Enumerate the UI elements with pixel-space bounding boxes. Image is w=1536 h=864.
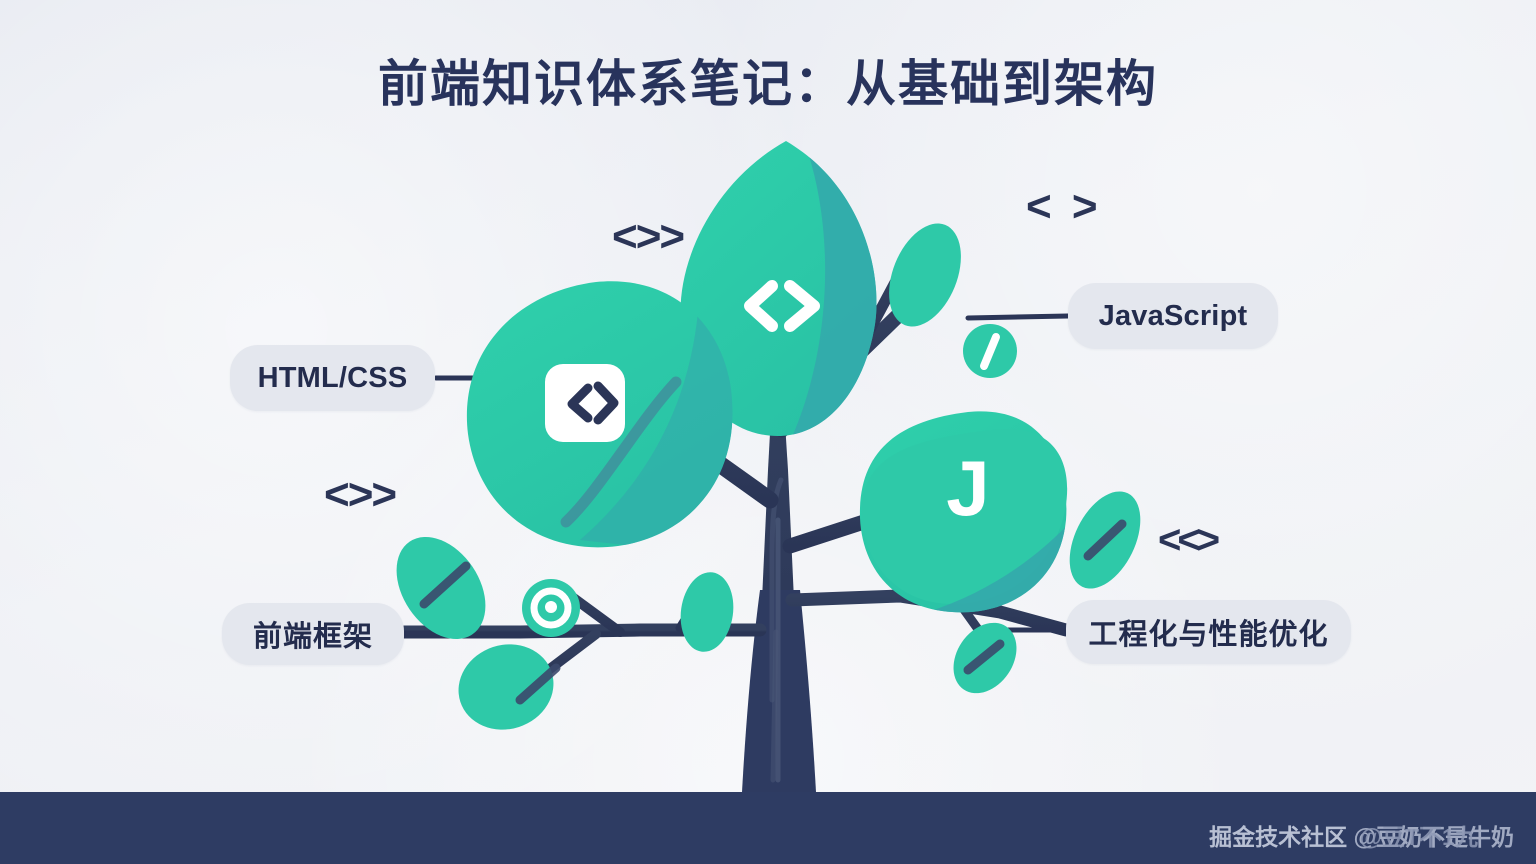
slash-circle-badge	[963, 324, 1017, 378]
slide-canvas: 前端知识体系笔记：从基础到架构	[0, 0, 1536, 864]
target-circle-icon	[522, 579, 580, 637]
decorative-bracket-icon-1: <>>	[612, 212, 683, 262]
watermark-handle-overlay: @豆T不1九	[1360, 818, 1478, 852]
connector-javascript	[968, 316, 1068, 318]
label-frontend-framework[interactable]: 前端框架	[222, 603, 404, 665]
decorative-bracket-icon-2: < >	[1026, 182, 1102, 232]
label-javascript[interactable]: JavaScript	[1068, 283, 1278, 349]
watermark-prefix: 掘金技术社区	[1209, 824, 1353, 850]
knowledge-tree-illustration: J	[0, 0, 1536, 864]
watermark-handle: @豆奶不是牛奶 @豆T不1九	[1354, 818, 1514, 852]
code-card-badge	[545, 364, 625, 442]
decorative-bracket-icon-3: <>>	[324, 470, 395, 520]
label-engineering-performance[interactable]: 工程化与性能优化	[1066, 600, 1351, 664]
page-title: 前端知识体系笔记：从基础到架构	[0, 44, 1536, 116]
decorative-bracket-icon-4: <<>	[1158, 518, 1216, 563]
watermark: 掘金技术社区 @豆奶不是牛奶 @豆T不1九	[1209, 818, 1514, 852]
label-html-css[interactable]: HTML/CSS	[230, 345, 435, 411]
js-letter-badge: J	[946, 444, 989, 532]
